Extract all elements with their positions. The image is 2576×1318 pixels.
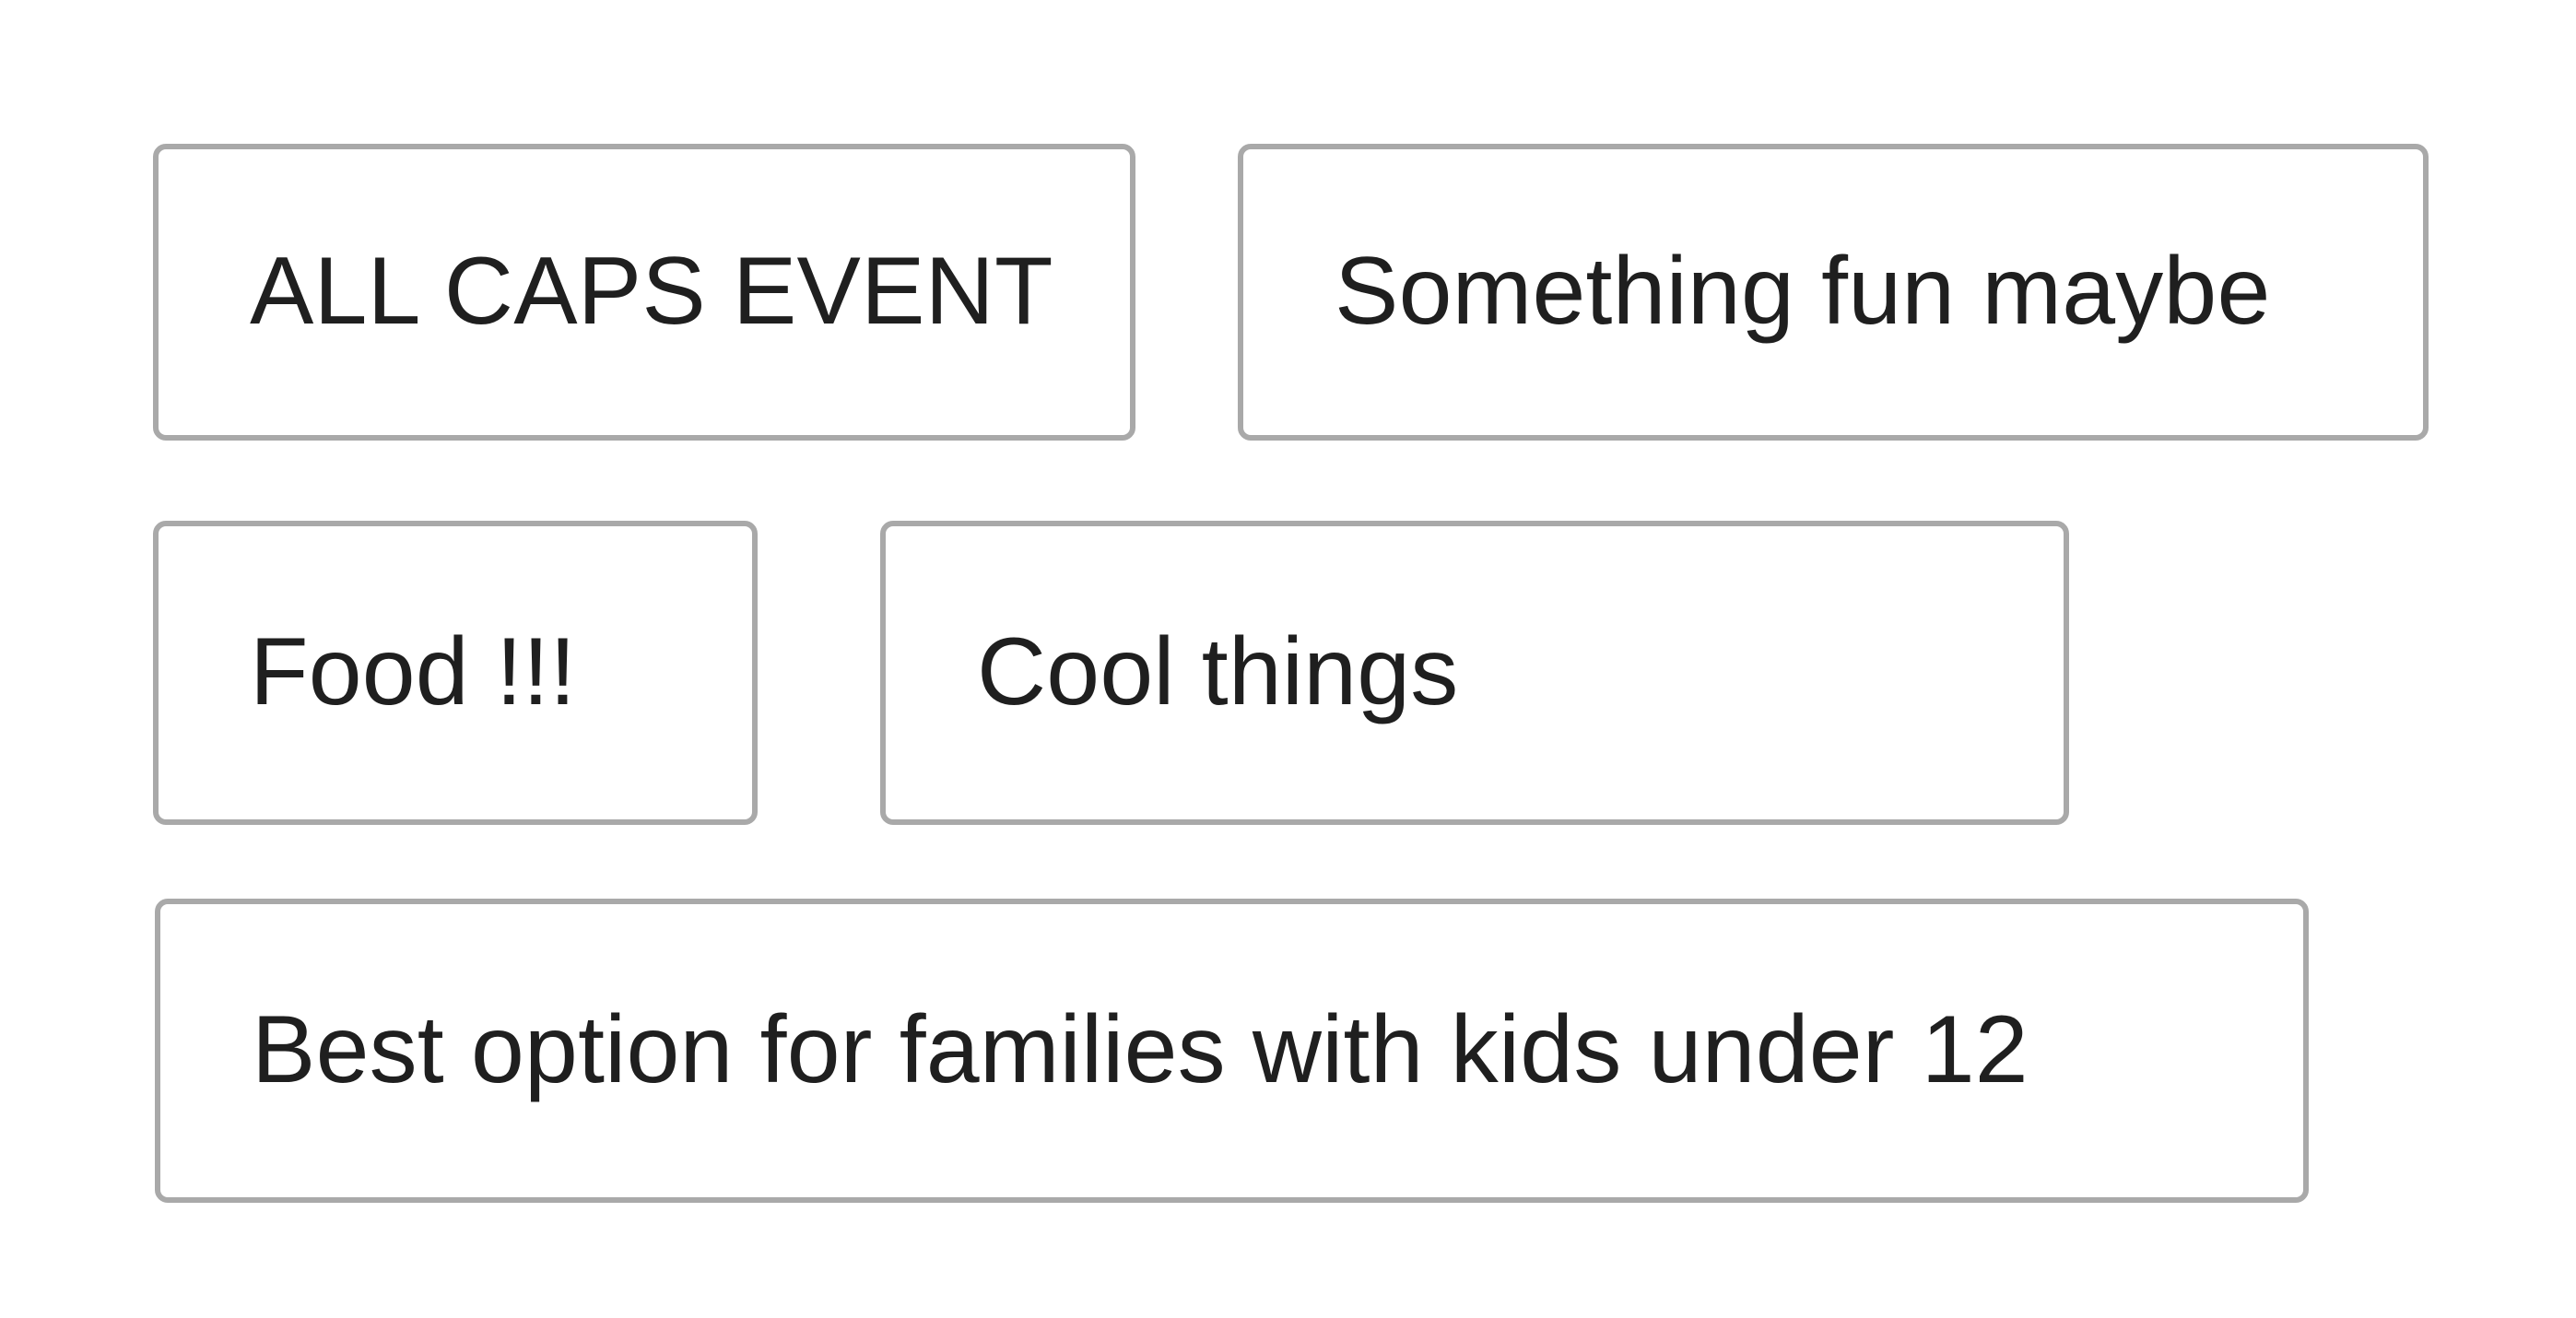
- option-button-label: Food !!!: [250, 622, 576, 723]
- option-button-cool-things[interactable]: Cool things: [880, 521, 2069, 825]
- option-button-screen: ALL CAPS EVENT Something fun maybe Food …: [0, 0, 2576, 1318]
- option-button-food[interactable]: Food !!!: [153, 521, 758, 825]
- option-button-label: ALL CAPS EVENT: [250, 241, 1053, 342]
- option-button-label: Cool things: [977, 622, 1459, 723]
- option-button-best-option-families[interactable]: Best option for families with kids under…: [155, 899, 2309, 1203]
- option-button-label: Best option for families with kids under…: [252, 1000, 2029, 1100]
- option-button-all-caps-event[interactable]: ALL CAPS EVENT: [153, 144, 1135, 441]
- option-button-something-fun-maybe[interactable]: Something fun maybe: [1238, 144, 2429, 441]
- option-button-label: Something fun maybe: [1335, 241, 2271, 342]
